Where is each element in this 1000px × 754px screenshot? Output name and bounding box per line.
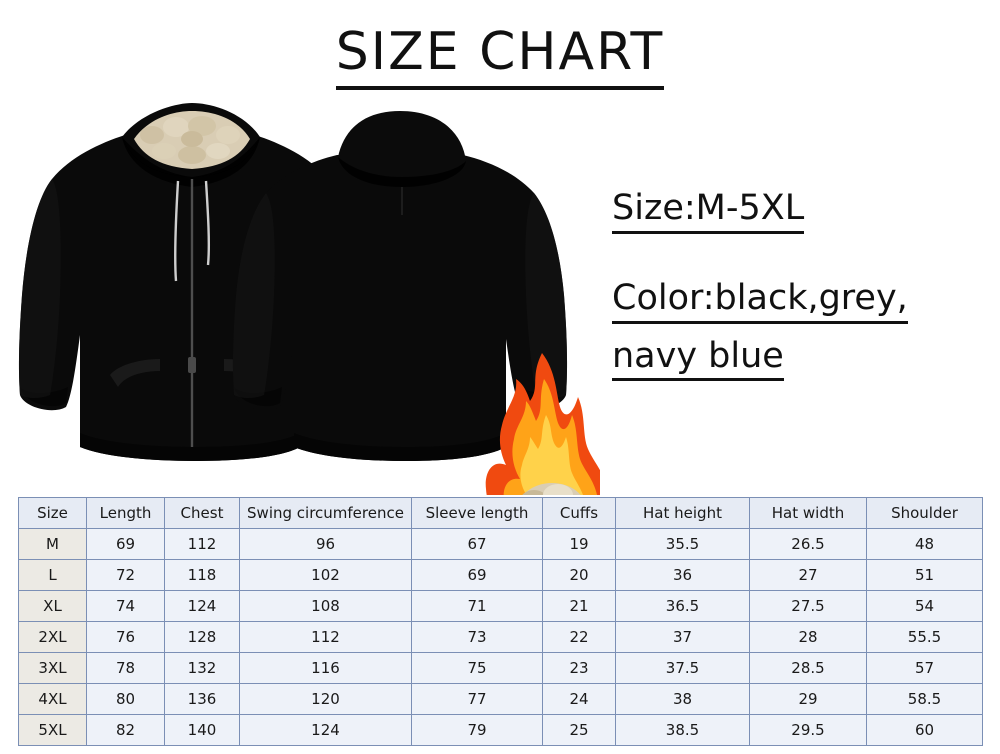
color-line-2-text: navy blue xyxy=(612,338,784,382)
cell-swing: 102 xyxy=(240,560,412,591)
cell-size: 2XL xyxy=(19,622,87,653)
cell-shoulder: 48 xyxy=(867,529,983,560)
cell-shoulder: 54 xyxy=(867,591,983,622)
cell-length: 82 xyxy=(87,715,165,746)
cell-cuffs: 20 xyxy=(543,560,616,591)
product-illustration xyxy=(0,95,600,490)
cell-shoulder: 60 xyxy=(867,715,983,746)
cell-size: 5XL xyxy=(19,715,87,746)
hoodie-illustration-svg xyxy=(0,95,600,495)
cell-hat-width: 26.5 xyxy=(750,529,867,560)
cell-length: 80 xyxy=(87,684,165,715)
cell-cuffs: 22 xyxy=(543,622,616,653)
hoodie-zipper-pull xyxy=(188,357,196,373)
table-row: 5XL 82 140 124 79 25 38.5 29.5 60 xyxy=(19,715,983,746)
cell-cuffs: 25 xyxy=(543,715,616,746)
col-header-sleeve-length: Sleeve length xyxy=(412,498,543,529)
cell-swing: 120 xyxy=(240,684,412,715)
cell-chest: 140 xyxy=(165,715,240,746)
cell-swing: 108 xyxy=(240,591,412,622)
cell-hat-width: 27.5 xyxy=(750,591,867,622)
size-chart-header: Size Length Chest Swing circumference Sl… xyxy=(19,498,983,529)
cell-size: 4XL xyxy=(19,684,87,715)
cell-size: L xyxy=(19,560,87,591)
cell-shoulder: 55.5 xyxy=(867,622,983,653)
col-header-chest: Chest xyxy=(165,498,240,529)
cell-sleeve: 69 xyxy=(412,560,543,591)
table-row: 4XL 80 136 120 77 24 38 29 58.5 xyxy=(19,684,983,715)
cell-swing: 112 xyxy=(240,622,412,653)
cell-hat-width: 29.5 xyxy=(750,715,867,746)
cell-hat-width: 27 xyxy=(750,560,867,591)
cell-hat-height: 38 xyxy=(616,684,750,715)
col-header-shoulder: Shoulder xyxy=(867,498,983,529)
col-header-cuffs: Cuffs xyxy=(543,498,616,529)
cell-chest: 124 xyxy=(165,591,240,622)
cell-swing: 124 xyxy=(240,715,412,746)
color-line-2: navy blue xyxy=(612,338,992,382)
cell-hat-height: 37 xyxy=(616,622,750,653)
cell-cuffs: 24 xyxy=(543,684,616,715)
cell-sleeve: 79 xyxy=(412,715,543,746)
cell-shoulder: 51 xyxy=(867,560,983,591)
size-chart-table: Size Length Chest Swing circumference Sl… xyxy=(18,497,983,746)
cell-hat-height: 37.5 xyxy=(616,653,750,684)
cell-sleeve: 75 xyxy=(412,653,543,684)
cell-shoulder: 58.5 xyxy=(867,684,983,715)
side-text-block: Size:M-5XL Color:black,grey, navy blue xyxy=(612,190,992,395)
table-row: 3XL 78 132 116 75 23 37.5 28.5 57 xyxy=(19,653,983,684)
cell-chest: 132 xyxy=(165,653,240,684)
cell-hat-width: 29 xyxy=(750,684,867,715)
cell-shoulder: 57 xyxy=(867,653,983,684)
cell-sleeve: 67 xyxy=(412,529,543,560)
size-chart-table-wrap: Size Length Chest Swing circumference Sl… xyxy=(18,497,982,746)
cell-sleeve: 77 xyxy=(412,684,543,715)
table-row: L 72 118 102 69 20 36 27 51 xyxy=(19,560,983,591)
table-header-row: Size Length Chest Swing circumference Sl… xyxy=(19,498,983,529)
col-header-hat-height: Hat height xyxy=(616,498,750,529)
cell-cuffs: 23 xyxy=(543,653,616,684)
cell-size: XL xyxy=(19,591,87,622)
cell-hat-height: 36.5 xyxy=(616,591,750,622)
col-header-hat-width: Hat width xyxy=(750,498,867,529)
cell-hat-width: 28 xyxy=(750,622,867,653)
cell-size: 3XL xyxy=(19,653,87,684)
size-range-text: Size:M-5XL xyxy=(612,190,804,234)
cell-chest: 136 xyxy=(165,684,240,715)
col-header-size: Size xyxy=(19,498,87,529)
table-row: 2XL 76 128 112 73 22 37 28 55.5 xyxy=(19,622,983,653)
cell-hat-width: 28.5 xyxy=(750,653,867,684)
cell-swing: 96 xyxy=(240,529,412,560)
size-range-line: Size:M-5XL xyxy=(612,190,992,234)
cell-sleeve: 71 xyxy=(412,591,543,622)
col-header-length: Length xyxy=(87,498,165,529)
page-title: SIZE CHART xyxy=(0,22,1000,90)
cell-length: 69 xyxy=(87,529,165,560)
table-row: M 69 112 96 67 19 35.5 26.5 48 xyxy=(19,529,983,560)
cell-length: 74 xyxy=(87,591,165,622)
table-row: XL 74 124 108 71 21 36.5 27.5 54 xyxy=(19,591,983,622)
cell-hat-height: 38.5 xyxy=(616,715,750,746)
cell-chest: 128 xyxy=(165,622,240,653)
size-chart-body: M 69 112 96 67 19 35.5 26.5 48 L 72 118 … xyxy=(19,529,983,746)
cell-length: 72 xyxy=(87,560,165,591)
cell-size: M xyxy=(19,529,87,560)
cell-hat-height: 35.5 xyxy=(616,529,750,560)
cell-chest: 112 xyxy=(165,529,240,560)
page-title-text: SIZE CHART xyxy=(336,25,664,90)
cell-cuffs: 19 xyxy=(543,529,616,560)
color-line-1-text: Color:black,grey, xyxy=(612,280,908,324)
cell-chest: 118 xyxy=(165,560,240,591)
cell-length: 78 xyxy=(87,653,165,684)
cell-cuffs: 21 xyxy=(543,591,616,622)
cell-sleeve: 73 xyxy=(412,622,543,653)
col-header-swing-circumference: Swing circumference xyxy=(240,498,412,529)
color-line-1: Color:black,grey, xyxy=(612,280,992,324)
cell-hat-height: 36 xyxy=(616,560,750,591)
cell-length: 76 xyxy=(87,622,165,653)
cell-swing: 116 xyxy=(240,653,412,684)
